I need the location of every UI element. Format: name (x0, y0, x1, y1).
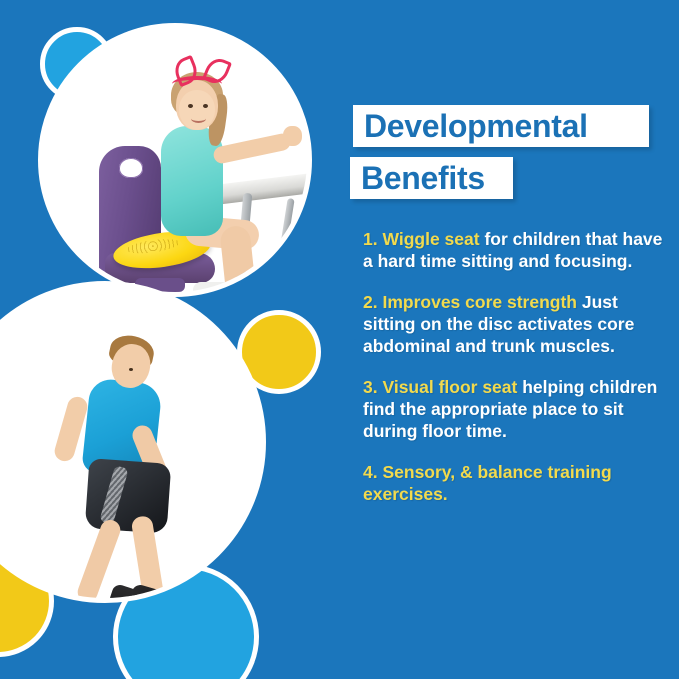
desk-leg-back (274, 198, 294, 284)
benefit-3-number: 3. (363, 377, 378, 397)
headband (172, 76, 222, 92)
benefit-4-number: 4. (363, 462, 378, 482)
page-title-line-1: Developmental (353, 110, 588, 142)
girl-face (179, 90, 215, 130)
photo-girl-on-wiggle-seat (38, 23, 312, 297)
chair-handle-hole (119, 158, 143, 178)
benefit-item-3: 3. Visual floor seat helping children fi… (363, 376, 663, 442)
benefit-item-4: 4. Sensory, & balance training exercises… (363, 461, 663, 505)
girl-hand (283, 126, 302, 146)
benefit-2-number: 2. (363, 292, 378, 312)
girl-eye-right (203, 104, 208, 108)
boy-shorts (85, 458, 172, 534)
benefit-item-1: 1. Wiggle seat for children that have a … (363, 228, 663, 272)
photo-top-scene (43, 28, 307, 292)
product-infographic: Developmental Benefits 1. Wiggle seat fo… (0, 0, 679, 679)
benefit-3-highlight: Visual floor seat (382, 377, 517, 397)
benefits-list: 1. Wiggle seat for children that have a … (363, 228, 663, 505)
title-banner-line-1: Developmental (353, 105, 649, 147)
benefit-item-2: 2. Improves core strength Just sitting o… (363, 291, 663, 357)
photo-bottom-scene (0, 286, 261, 598)
benefit-2-highlight: Improves core strength (382, 292, 577, 312)
page-title-line-2: Benefits (350, 162, 485, 194)
girl-smile (191, 114, 206, 123)
benefit-4-highlight: Sensory, & balance training exercises. (363, 462, 612, 504)
benefit-1-highlight: Wiggle seat (382, 229, 479, 249)
benefit-1-number: 1. (363, 229, 378, 249)
girl-arm (212, 132, 292, 165)
photo-boy-on-balance-discs (0, 281, 266, 603)
text-column: Developmental Benefits 1. Wiggle seat fo… (350, 0, 679, 679)
girl-eye-left (188, 104, 193, 108)
title-banner-line-2: Benefits (350, 157, 513, 199)
boy-eye (129, 368, 133, 371)
